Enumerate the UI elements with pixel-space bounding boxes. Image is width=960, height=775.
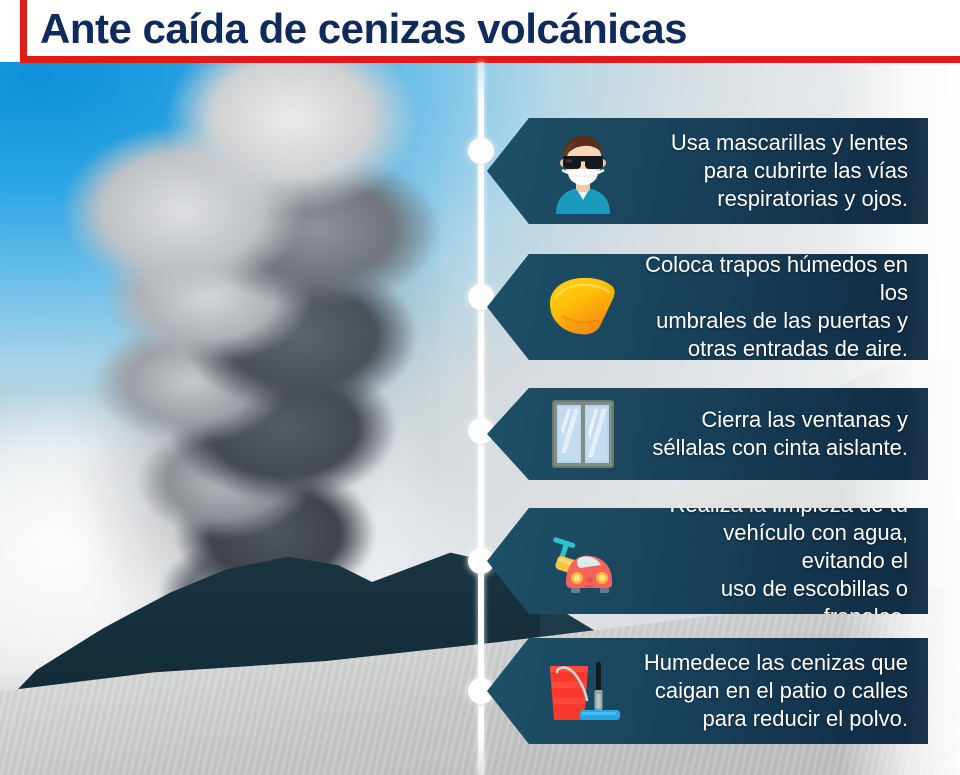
window-glyph: [540, 391, 626, 477]
step-1-line-2: para cubrirte las vías: [635, 157, 908, 185]
page-title: Ante caída de cenizas volcánicas: [40, 4, 687, 54]
step-2-line-1: Coloca trapos húmedos en los: [635, 251, 908, 307]
step-card-2[interactable]: Coloca trapos húmedos en los umbrales de…: [487, 254, 928, 360]
step-5-line-3: para reducir el polvo.: [635, 705, 908, 733]
step-3-line-2: séllalas con cinta aislante.: [635, 434, 908, 462]
wet-cloth-icon: [531, 254, 635, 360]
person-mask-sunglasses-glyph: [540, 128, 626, 214]
step-card-1[interactable]: Usa mascarillas y lentes para cubrirte l…: [487, 118, 928, 224]
title-accent-bar: [20, 0, 27, 62]
step-card-3-text: Cierra las ventanas y séllalas con cinta…: [635, 406, 928, 462]
step-2-line-2: umbrales de las puertas y: [635, 307, 908, 335]
step-3-line-1: Cierra las ventanas y: [635, 406, 908, 434]
step-4-line-2: vehículo con agua, evitando el: [635, 519, 908, 575]
wet-cloth-glyph: [540, 264, 626, 350]
step-card-4[interactable]: Realiza la limpieza de tu vehículo con a…: [487, 508, 928, 614]
timeline-dot-1: [468, 138, 494, 164]
step-5-line-2: caigan en el patio o calles: [635, 677, 908, 705]
step-5-line-1: Humedece las cenizas que: [635, 649, 908, 677]
step-1-line-3: respiratorias y ojos.: [635, 185, 908, 213]
infographic-poster: Ante caída de cenizas volcánicas: [0, 0, 960, 775]
bucket-mop-icon: [531, 638, 635, 744]
step-2-line-3: otras entradas de aire.: [635, 335, 908, 363]
step-card-1-text: Usa mascarillas y lentes para cubrirte l…: [635, 129, 928, 213]
person-mask-sunglasses-icon: [531, 118, 635, 224]
bucket-mop-glyph: [540, 648, 626, 734]
window-icon: [531, 388, 635, 480]
title-accent-underline: [20, 56, 960, 63]
step-card-5[interactable]: Humedece las cenizas que caigan en el pa…: [487, 638, 928, 744]
car-wash-icon: [531, 508, 635, 614]
step-1-line-1: Usa mascarillas y lentes: [635, 129, 908, 157]
title-band: Ante caída de cenizas volcánicas: [0, 0, 960, 64]
step-card-4-text: Realiza la limpieza de tu vehículo con a…: [635, 491, 928, 631]
step-card-2-text: Coloca trapos húmedos en los umbrales de…: [635, 251, 928, 363]
car-wash-glyph: [540, 518, 626, 604]
step-card-5-text: Humedece las cenizas que caigan en el pa…: [635, 649, 928, 733]
step-card-3[interactable]: Cierra las ventanas y séllalas con cinta…: [487, 388, 928, 480]
